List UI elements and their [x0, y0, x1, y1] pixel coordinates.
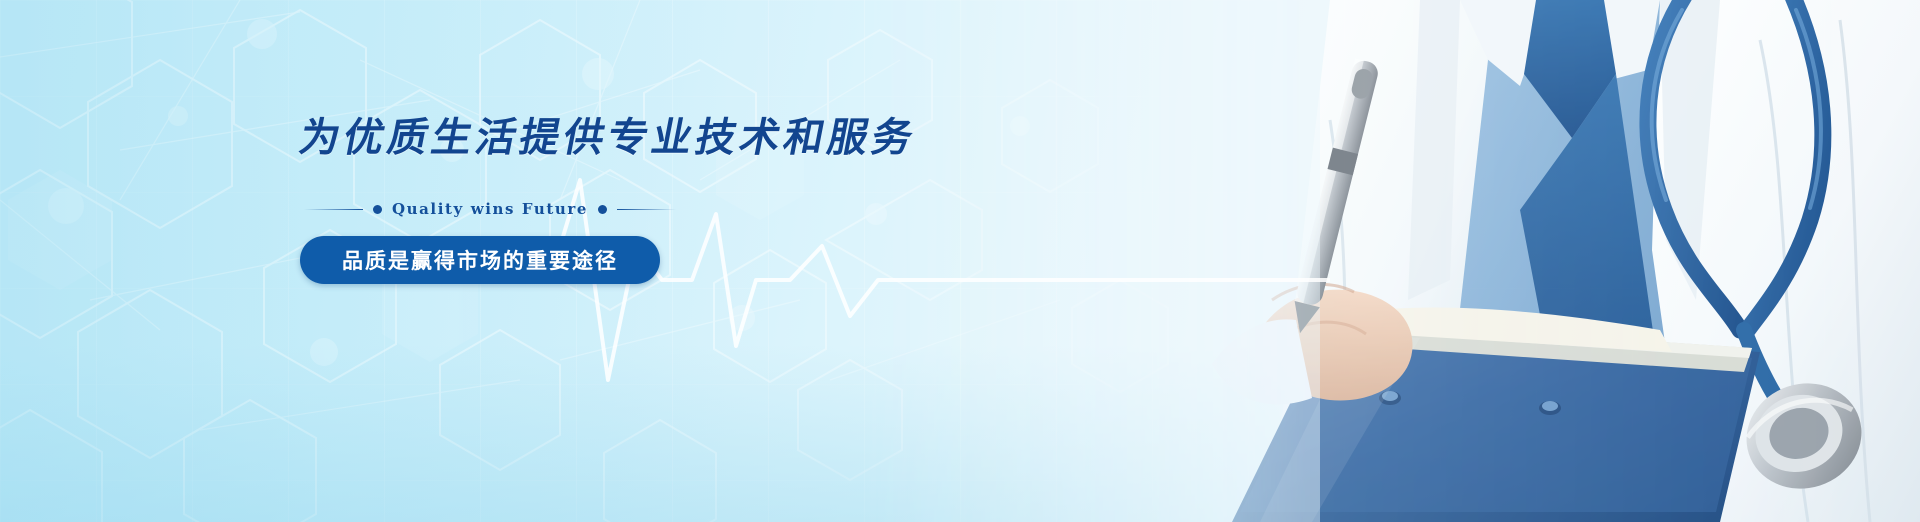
slogan-pill-button[interactable]: 品质是赢得市场的重要途径 — [300, 236, 660, 284]
hero-banner: 为优质生活提供专业技术和服务 Quality wins Future 品质是赢得… — [0, 0, 1920, 522]
dot-marker-right-icon — [598, 205, 607, 214]
banner-content: 为优质生活提供专业技术和服务 Quality wins Future 品质是赢得… — [300, 118, 940, 284]
dot-marker-left-icon — [373, 205, 382, 214]
subtitle-row: Quality wins Future — [304, 200, 676, 218]
rule-left-icon — [304, 209, 363, 210]
rule-right-icon — [617, 209, 676, 210]
page-title: 为优质生活提供专业技术和服务 — [296, 118, 944, 158]
subtitle-en: Quality wins Future — [392, 200, 588, 218]
